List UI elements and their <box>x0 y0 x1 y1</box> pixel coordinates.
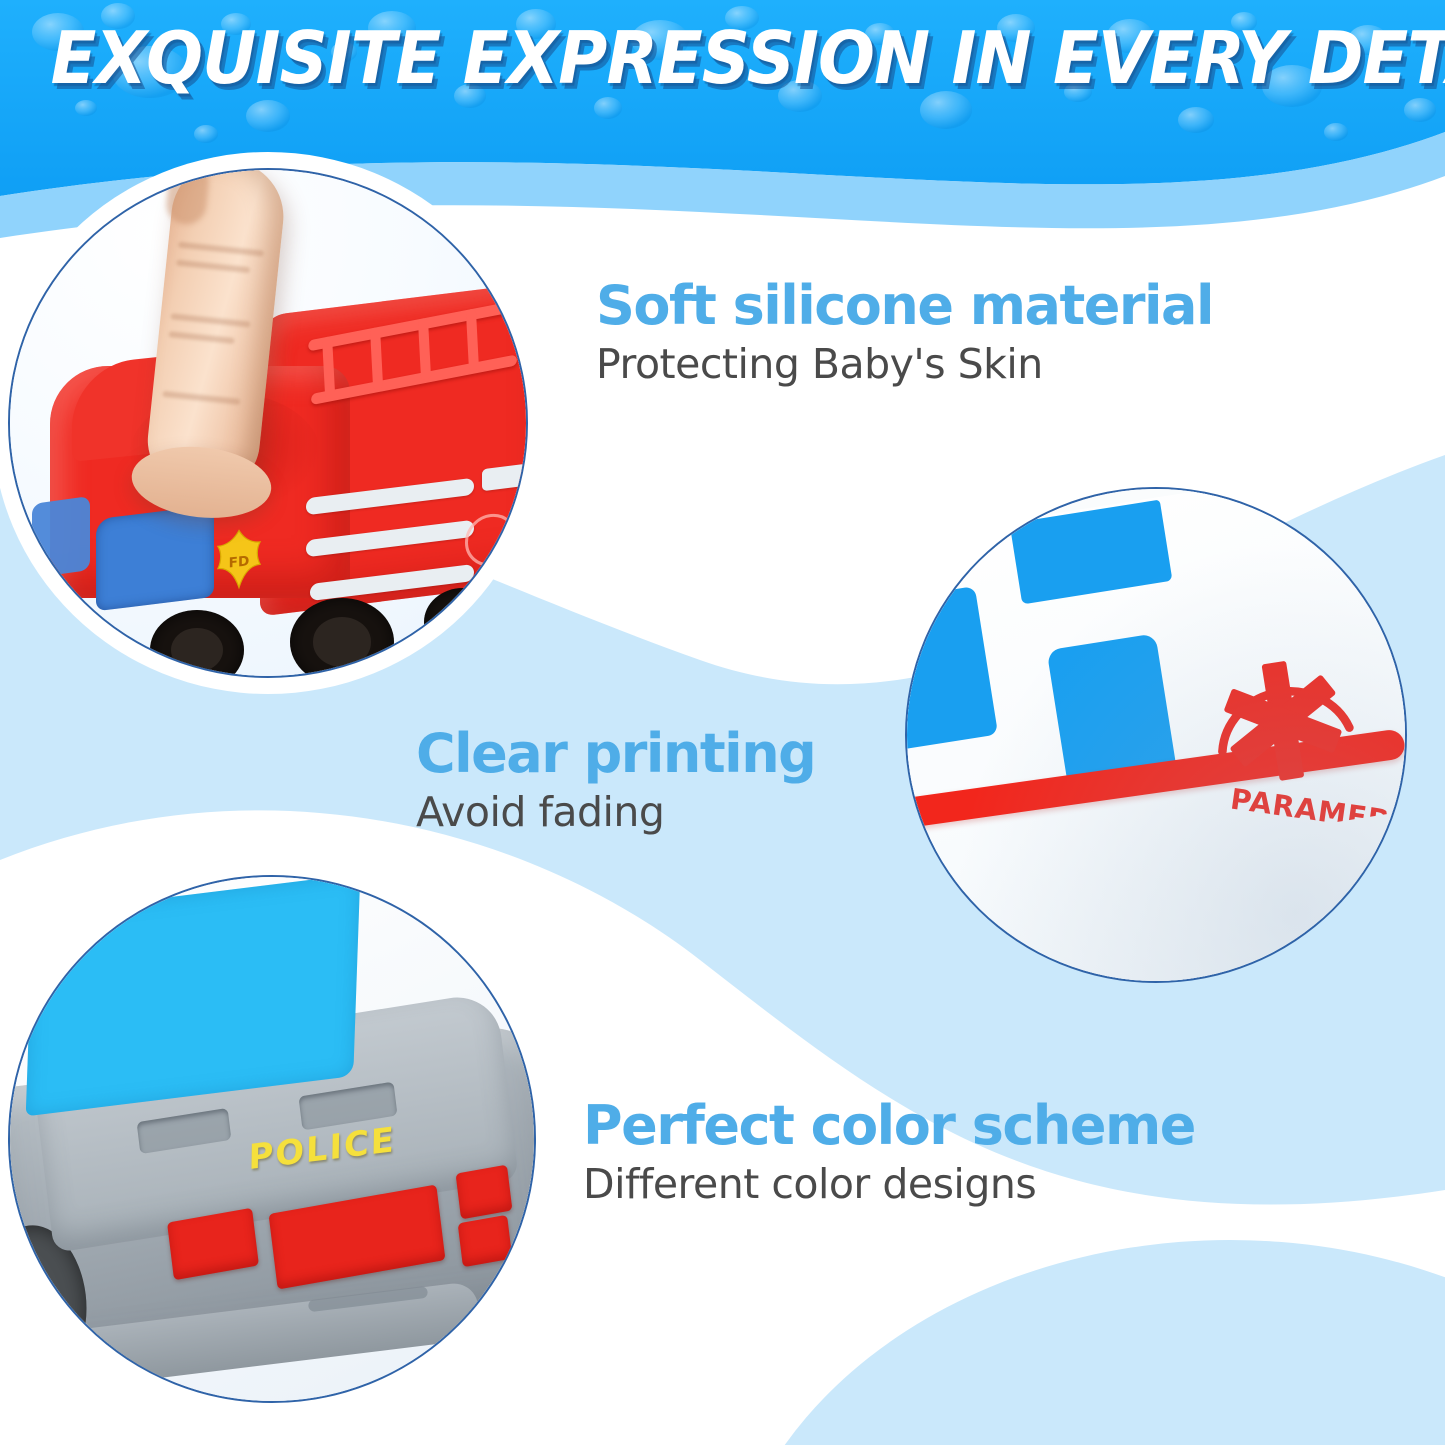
fire-truck-photo: FD <box>8 168 528 678</box>
feature-subtitle: Protecting Baby's Skin <box>596 341 1213 388</box>
infographic-page: EXQUISITE EXPRESSION IN EVERY DETAIL <box>0 0 1445 1445</box>
feature-color-scheme: Perfect color scheme Different color des… <box>583 1098 1195 1208</box>
feature-soft-silicone: Soft silicone material Protecting Baby's… <box>596 278 1213 388</box>
page-title: EXQUISITE EXPRESSION IN EVERY DETAIL <box>51 22 1395 94</box>
feature-subtitle: Avoid fading <box>416 789 815 836</box>
feature-title: Soft silicone material <box>596 278 1213 335</box>
fire-truck-wheel <box>424 588 502 656</box>
feature-title: Perfect color scheme <box>583 1098 1195 1155</box>
police-car-tail-light <box>456 1165 513 1220</box>
fire-department-badge-text: FD <box>229 553 250 571</box>
feature-subtitle: Different color designs <box>583 1161 1195 1208</box>
police-car-tail-light <box>458 1215 513 1267</box>
fire-truck-wheel <box>290 598 394 676</box>
header-banner: EXQUISITE EXPRESSION IN EVERY DETAIL <box>0 0 1445 150</box>
feature-clear-printing: Clear printing Avoid fading <box>416 726 815 836</box>
fire-truck-window <box>96 505 214 611</box>
fire-department-badge-icon: FD <box>208 525 270 594</box>
fire-truck-side-window <box>32 496 90 578</box>
police-car-rear-window <box>26 877 361 1116</box>
police-car-photo: POLICE <box>8 875 536 1403</box>
ambulance-photo: PARAMEDIC <box>905 487 1407 983</box>
ambulance-shading <box>907 489 1405 981</box>
feature-title: Clear printing <box>416 726 815 783</box>
